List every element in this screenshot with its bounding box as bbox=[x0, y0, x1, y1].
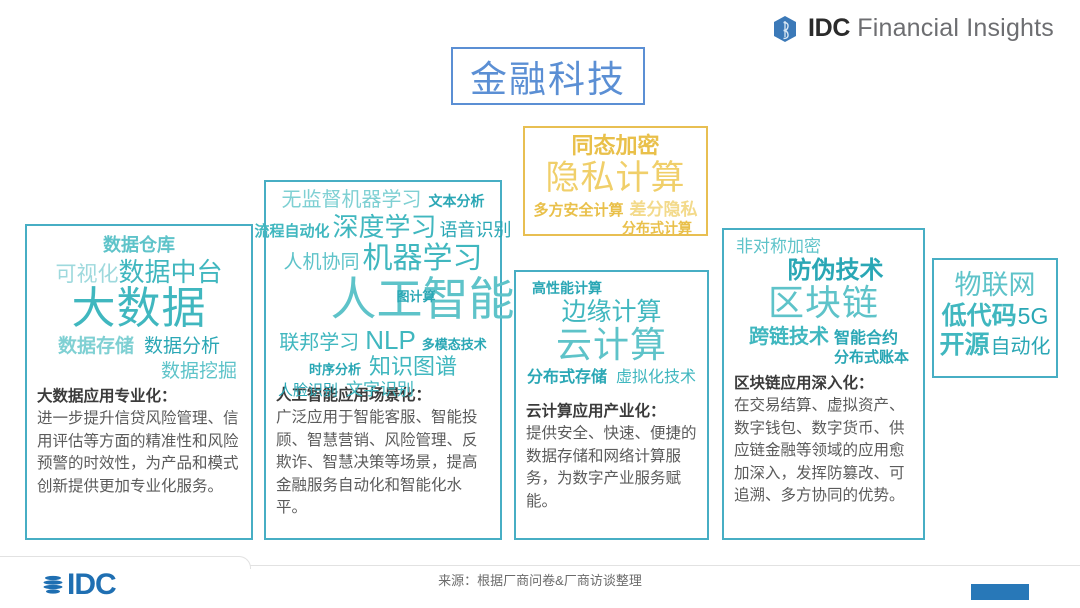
cloud-term: 边缘计算 bbox=[561, 300, 661, 325]
cloud-term: 语音识别 bbox=[440, 221, 512, 239]
cloud-term: 差分隐私 bbox=[630, 201, 698, 218]
card-ai: 无监督机器学习 文本分析 流程自动化 深度学习 语音识别 人机协同 机器学习 人… bbox=[264, 180, 502, 540]
cloud-term: NLP bbox=[365, 327, 416, 353]
cloud-term: 时序分析 bbox=[309, 363, 361, 376]
card-body-ai: 人工智能应用场景化： 广泛应用于智能客服、智能投顾、智慧营销、风险管理、反欺诈、… bbox=[266, 385, 500, 520]
cloud-term: 文本分析 bbox=[429, 194, 485, 208]
page-title: 金融科技 bbox=[470, 49, 626, 103]
cloud-term: 联邦学习 bbox=[279, 333, 359, 353]
cloud-term: 虚拟化技术 bbox=[616, 370, 696, 386]
cloud-term: 流程自动化 bbox=[254, 224, 329, 239]
cloud-term: 多方安全计算 bbox=[533, 203, 623, 218]
slide-canvas: IDC Financial Insights 金融科技 数据仓库 可视化 数据中… bbox=[0, 0, 1080, 608]
cloud-term: 同态加密 bbox=[571, 135, 659, 157]
card-text: 广泛应用于智能客服、智能投顾、智慧营销、风险管理、反欺诈、智慧决策等场景，提高金… bbox=[276, 407, 490, 519]
idc-hex-logo-icon bbox=[772, 15, 798, 43]
card-heading: 大数据应用专业化： bbox=[37, 386, 241, 408]
brand-name: IDC Financial Insights bbox=[808, 14, 1054, 43]
cloud-term: 数据挖掘 bbox=[161, 362, 237, 381]
cloud-term: 知识图谱 bbox=[369, 356, 457, 378]
card-blockchain: 非对称加密 防伪技术 区块链 跨链技术 智能合约 分布式账本 区块链应用深入化：… bbox=[722, 228, 925, 540]
cloud-term: 大数据 bbox=[72, 287, 207, 331]
card-big-data: 数据仓库 可视化 数据中台 大数据 数据存储 数据分析 数据挖掘 大数据应用专业… bbox=[25, 224, 253, 540]
cloud-term: 文字识别 bbox=[346, 381, 414, 398]
cloud-term: 图计算 bbox=[396, 290, 435, 303]
cloud-term: 跨链技术 bbox=[749, 327, 829, 347]
cloud-term: 数据分析 bbox=[144, 337, 220, 356]
wordcloud-privacy: 同态加密 隐私计算 多方安全计算 差分隐私 分布式计算 bbox=[525, 128, 706, 235]
slide-title-box: 金融科技 bbox=[451, 47, 645, 105]
cloud-term: 数据存储 bbox=[58, 337, 134, 356]
brand-name-bold: IDC bbox=[808, 14, 850, 42]
wordcloud-blockchain: 非对称加密 防伪技术 区块链 跨链技术 智能合约 分布式账本 bbox=[724, 230, 923, 373]
cloud-term: 高性能计算 bbox=[532, 281, 602, 295]
cloud-term: 人机协同 bbox=[283, 253, 359, 272]
cloud-term: 区块链 bbox=[768, 285, 879, 321]
cloud-term: 分布式存储 bbox=[527, 370, 607, 386]
card-body-cloud: 云计算应用产业化： 提供安全、快速、便捷的数据存储和网络计算服务，为数字产业服务… bbox=[516, 401, 707, 513]
footer-swoosh bbox=[0, 556, 251, 569]
card-text: 提供安全、快速、便捷的数据存储和网络计算服务，为数字产业服务赋能。 bbox=[526, 423, 697, 513]
wordcloud-ai: 无监督机器学习 文本分析 流程自动化 深度学习 语音识别 人机协同 机器学习 人… bbox=[266, 182, 500, 385]
card-text: 在交易结算、虚拟资产、数字钱包、数字货币、供应链金融等领域的应用愈加深入，发挥防… bbox=[734, 395, 913, 507]
cloud-term: 开源 bbox=[939, 333, 989, 358]
cloud-term: 防伪技术 bbox=[788, 259, 884, 283]
source-note: 来源：根据厂商问卷&厂商访谈整理 bbox=[0, 570, 1080, 589]
cloud-term: 多模态技术 bbox=[422, 338, 487, 351]
wordcloud-big-data: 数据仓库 可视化 数据中台 大数据 数据存储 数据分析 数据挖掘 bbox=[27, 226, 251, 386]
cloud-term: 自动化 bbox=[991, 337, 1051, 357]
card-body-blockchain: 区块链应用深入化： 在交易结算、虚拟资产、数字钱包、数字货币、供应链金融等领域的… bbox=[724, 373, 923, 508]
cloud-term: 人脸识别 bbox=[278, 383, 338, 398]
brand-name-light: Financial Insights bbox=[850, 14, 1054, 42]
cloud-term: 可视化 bbox=[55, 264, 118, 285]
card-privacy-computing: 同态加密 隐私计算 多方安全计算 差分隐私 分布式计算 bbox=[523, 126, 708, 236]
footer-accent-block bbox=[971, 584, 1029, 600]
cloud-term: 分布式账本 bbox=[834, 350, 909, 365]
card-text: 进一步提升信贷风险管理、信用评估等方面的精准性和风险预警的时效性，为产品和模式创… bbox=[37, 408, 241, 498]
card-body-big-data: 大数据应用专业化： 进一步提升信贷风险管理、信用评估等方面的精准性和风险预警的时… bbox=[27, 386, 251, 498]
cloud-term: 数据中台 bbox=[118, 259, 222, 285]
brand-header: IDC Financial Insights bbox=[772, 14, 1054, 43]
cloud-term: 5G bbox=[1018, 305, 1049, 328]
cloud-term: 物联网 bbox=[955, 272, 1036, 299]
cloud-term: 云计算 bbox=[556, 327, 667, 363]
wordcloud-cloud: 高性能计算 边缘计算 云计算 分布式存储 虚拟化技术 bbox=[516, 272, 707, 401]
card-heading: 云计算应用产业化： bbox=[526, 401, 697, 423]
cloud-term: 无监督机器学习 bbox=[282, 190, 422, 210]
card-cloud-computing: 高性能计算 边缘计算 云计算 分布式存储 虚拟化技术 云计算应用产业化： 提供安… bbox=[514, 270, 709, 540]
cloud-term: 数据仓库 bbox=[103, 236, 175, 254]
cloud-term: 智能合约 bbox=[834, 331, 898, 347]
cloud-term: 机器学习 bbox=[363, 244, 483, 274]
cloud-term: 分布式计算 bbox=[622, 221, 692, 235]
cloud-term: 非对称加密 bbox=[736, 238, 821, 255]
card-iot: 物联网 低代码 5G 开源 自动化 bbox=[932, 258, 1058, 378]
cloud-term: 深度学习 bbox=[333, 214, 437, 240]
cloud-term: 隐私计算 bbox=[546, 161, 686, 195]
card-heading: 区块链应用深入化： bbox=[734, 373, 913, 395]
wordcloud-iot: 物联网 低代码 5G 开源 自动化 bbox=[934, 260, 1056, 358]
cloud-term: 低代码 bbox=[942, 304, 1017, 329]
